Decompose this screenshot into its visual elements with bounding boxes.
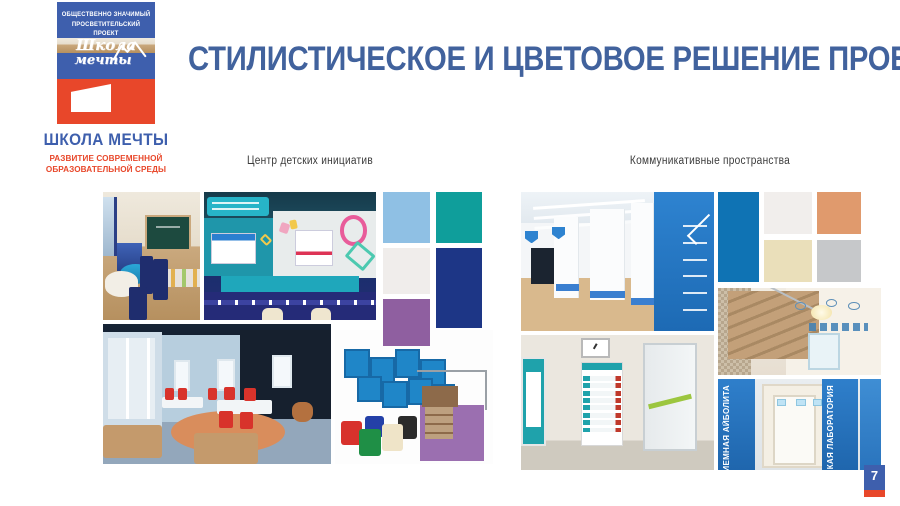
wall-clock-icon xyxy=(581,338,610,358)
swatch-orange xyxy=(817,192,861,234)
overlay-label-banner xyxy=(207,197,269,216)
window-shape xyxy=(174,360,190,391)
chair-red xyxy=(208,388,217,399)
swatch-navy xyxy=(436,248,482,328)
page-number-badge: 7 xyxy=(864,465,885,497)
floor-navy xyxy=(204,292,376,320)
logo-subtitle-line-2: ОБРАЗОВАТЕЛЬНОЙ СРЕДЫ xyxy=(40,164,173,175)
photo-entrance-vertical-signage: ПРИЕМНАЯ АЙБОЛИТА ТВОРЧЕСКАЯ ЛАБОРАТОРИЯ xyxy=(718,379,881,470)
chair-red xyxy=(165,388,174,399)
floor-label-graphic xyxy=(809,323,868,332)
corridor-end-dark xyxy=(531,248,554,284)
swatch-off-white xyxy=(383,248,430,294)
swatch-blue xyxy=(718,192,759,282)
bench-blue xyxy=(631,298,656,305)
swatch-purple xyxy=(383,299,430,346)
photo-classroom-blue-furniture xyxy=(103,192,200,320)
chair-shape xyxy=(129,287,146,320)
board-row xyxy=(583,420,620,425)
stair-storage-unit xyxy=(420,405,483,461)
circle-graphic xyxy=(340,215,368,246)
board-row xyxy=(583,405,620,410)
board-row xyxy=(583,376,620,381)
swatch-cream xyxy=(764,240,812,282)
swatch-light-blue xyxy=(383,192,430,243)
page-number: 7 xyxy=(871,468,878,483)
glass-door-shape xyxy=(643,343,697,451)
board-row xyxy=(583,428,620,433)
wall-poster xyxy=(211,233,256,264)
logo-subtitle: РАЗВИТИЕ СОВРЕМЕННОЙ ОБРАЗОВАТЕЛЬНОЙ СРЕ… xyxy=(40,153,173,175)
door-shape xyxy=(808,333,841,370)
chair-red xyxy=(244,388,255,401)
arrow-left-icon xyxy=(687,214,714,245)
shelf-module xyxy=(382,381,407,408)
stool-shape xyxy=(311,308,332,320)
signage-text-left: ПРИЕМНАЯ АЙБОЛИТА xyxy=(722,385,731,470)
sofa-shape xyxy=(194,433,258,464)
board-row xyxy=(583,398,620,403)
sofa-shape xyxy=(103,425,162,459)
photo-innovation-teal-room xyxy=(204,192,376,320)
chair-red xyxy=(219,411,233,428)
wall-pictogram xyxy=(777,399,787,406)
nav-line xyxy=(683,309,707,311)
chair-red xyxy=(178,388,187,399)
stool-shape xyxy=(262,308,283,320)
wall-column xyxy=(590,209,625,301)
bench-blue xyxy=(556,284,579,291)
section-caption-communication-spaces: Коммуникативные пространства xyxy=(604,155,815,167)
moodboard-children-initiatives xyxy=(103,192,493,464)
board-header xyxy=(582,363,622,370)
nav-line xyxy=(683,292,707,294)
swatch-white xyxy=(764,192,812,234)
wall-graphic-icon xyxy=(826,299,837,307)
shape-graphic xyxy=(289,220,298,230)
brand-logo: ОБЩЕСТВЕННО ЗНАЧИМЫЙ ПРОСВЕТИТЕЛЬСКИЙ ПР… xyxy=(36,2,176,175)
window-shape xyxy=(103,197,117,256)
moodboard-communication-spaces: ПРИЕМНАЯ АЙБОЛИТА ТВОРЧЕСКАЯ ЛАБОРАТОРИЯ xyxy=(521,192,881,470)
chair-red xyxy=(224,387,235,400)
chair-red xyxy=(240,412,254,429)
slide: ОБЩЕСТВЕННО ЗНАЧИМЫЙ ПРОСВЕТИТЕЛЬСКИЙ ПР… xyxy=(0,0,900,506)
navigation-wall-blue xyxy=(654,192,714,331)
bean-bag-shape xyxy=(292,402,313,422)
signage-band-right: ТВОРЧЕСКАЯ ЛАБОРАТОРИЯ xyxy=(822,379,858,470)
chalkboard-shape xyxy=(145,215,192,251)
logo-subtitle-line-1: РАЗВИТИЕ СОВРЕМЕННОЙ xyxy=(40,153,173,164)
section-caption-children-initiatives: Центр детских инициатив xyxy=(209,155,411,167)
signage-band-left: ПРИЕМНАЯ АЙБОЛИТА xyxy=(718,379,755,470)
notice-board-teal xyxy=(521,357,546,446)
nav-line xyxy=(683,275,707,277)
shelf-module xyxy=(344,349,369,378)
board-row xyxy=(583,413,620,418)
wall-pictogram xyxy=(796,399,806,406)
photo-corridor-info-board xyxy=(521,335,714,470)
bookshelf-shape xyxy=(108,338,156,419)
wall-pictogram xyxy=(813,399,823,406)
photo-modular-furniture-render xyxy=(335,330,493,464)
information-board xyxy=(581,362,623,446)
photo-corridor-navigation-wall xyxy=(521,192,714,331)
page-title: СТИЛИСТИЧЕСКОЕ И ЦВЕТОВОЕ РЕШЕНИЕ ПРОЕКТ… xyxy=(188,40,900,79)
photo-staircase-second-floor xyxy=(718,288,881,375)
shelf-module xyxy=(357,376,382,403)
bench-seating xyxy=(221,276,359,291)
swatch-gray xyxy=(817,240,861,282)
photo-open-coworking-space xyxy=(103,324,331,464)
swatch-teal xyxy=(436,192,482,243)
cube-seat xyxy=(382,424,403,451)
page-badge-accent-bar xyxy=(864,490,885,497)
logo-tagline-line-1: ОБЩЕСТВЕННО ЗНАЧИМЫЙ xyxy=(60,10,152,20)
chair-shape xyxy=(153,259,168,300)
signage-band-far xyxy=(860,379,881,470)
board-row xyxy=(583,391,620,396)
ceiling-arrow-marker xyxy=(525,231,539,244)
wall-poster xyxy=(295,230,333,266)
bench-blue xyxy=(590,291,625,298)
wall-graphic-icon xyxy=(795,302,806,310)
logo-badge: ОБЩЕСТВЕННО ЗНАЧИМЫЙ ПРОСВЕТИТЕЛЬСКИЙ ПР… xyxy=(57,2,155,124)
logo-tagline: ОБЩЕСТВЕННО ЗНАЧИМЫЙ ПРОСВЕТИТЕЛЬСКИЙ ПР… xyxy=(60,10,152,39)
window-shape xyxy=(272,355,293,389)
mountain-peak-icon xyxy=(113,40,147,62)
wall-column xyxy=(631,203,654,303)
nav-line xyxy=(683,259,707,261)
logo-name: ШКОЛА МЕЧТЫ xyxy=(41,131,171,150)
board-row xyxy=(583,383,620,388)
wall-graphic-icon xyxy=(848,302,859,310)
cube-seat xyxy=(359,429,381,456)
signage-text-right: ТВОРЧЕСКАЯ ЛАБОРАТОРИЯ xyxy=(826,385,835,470)
